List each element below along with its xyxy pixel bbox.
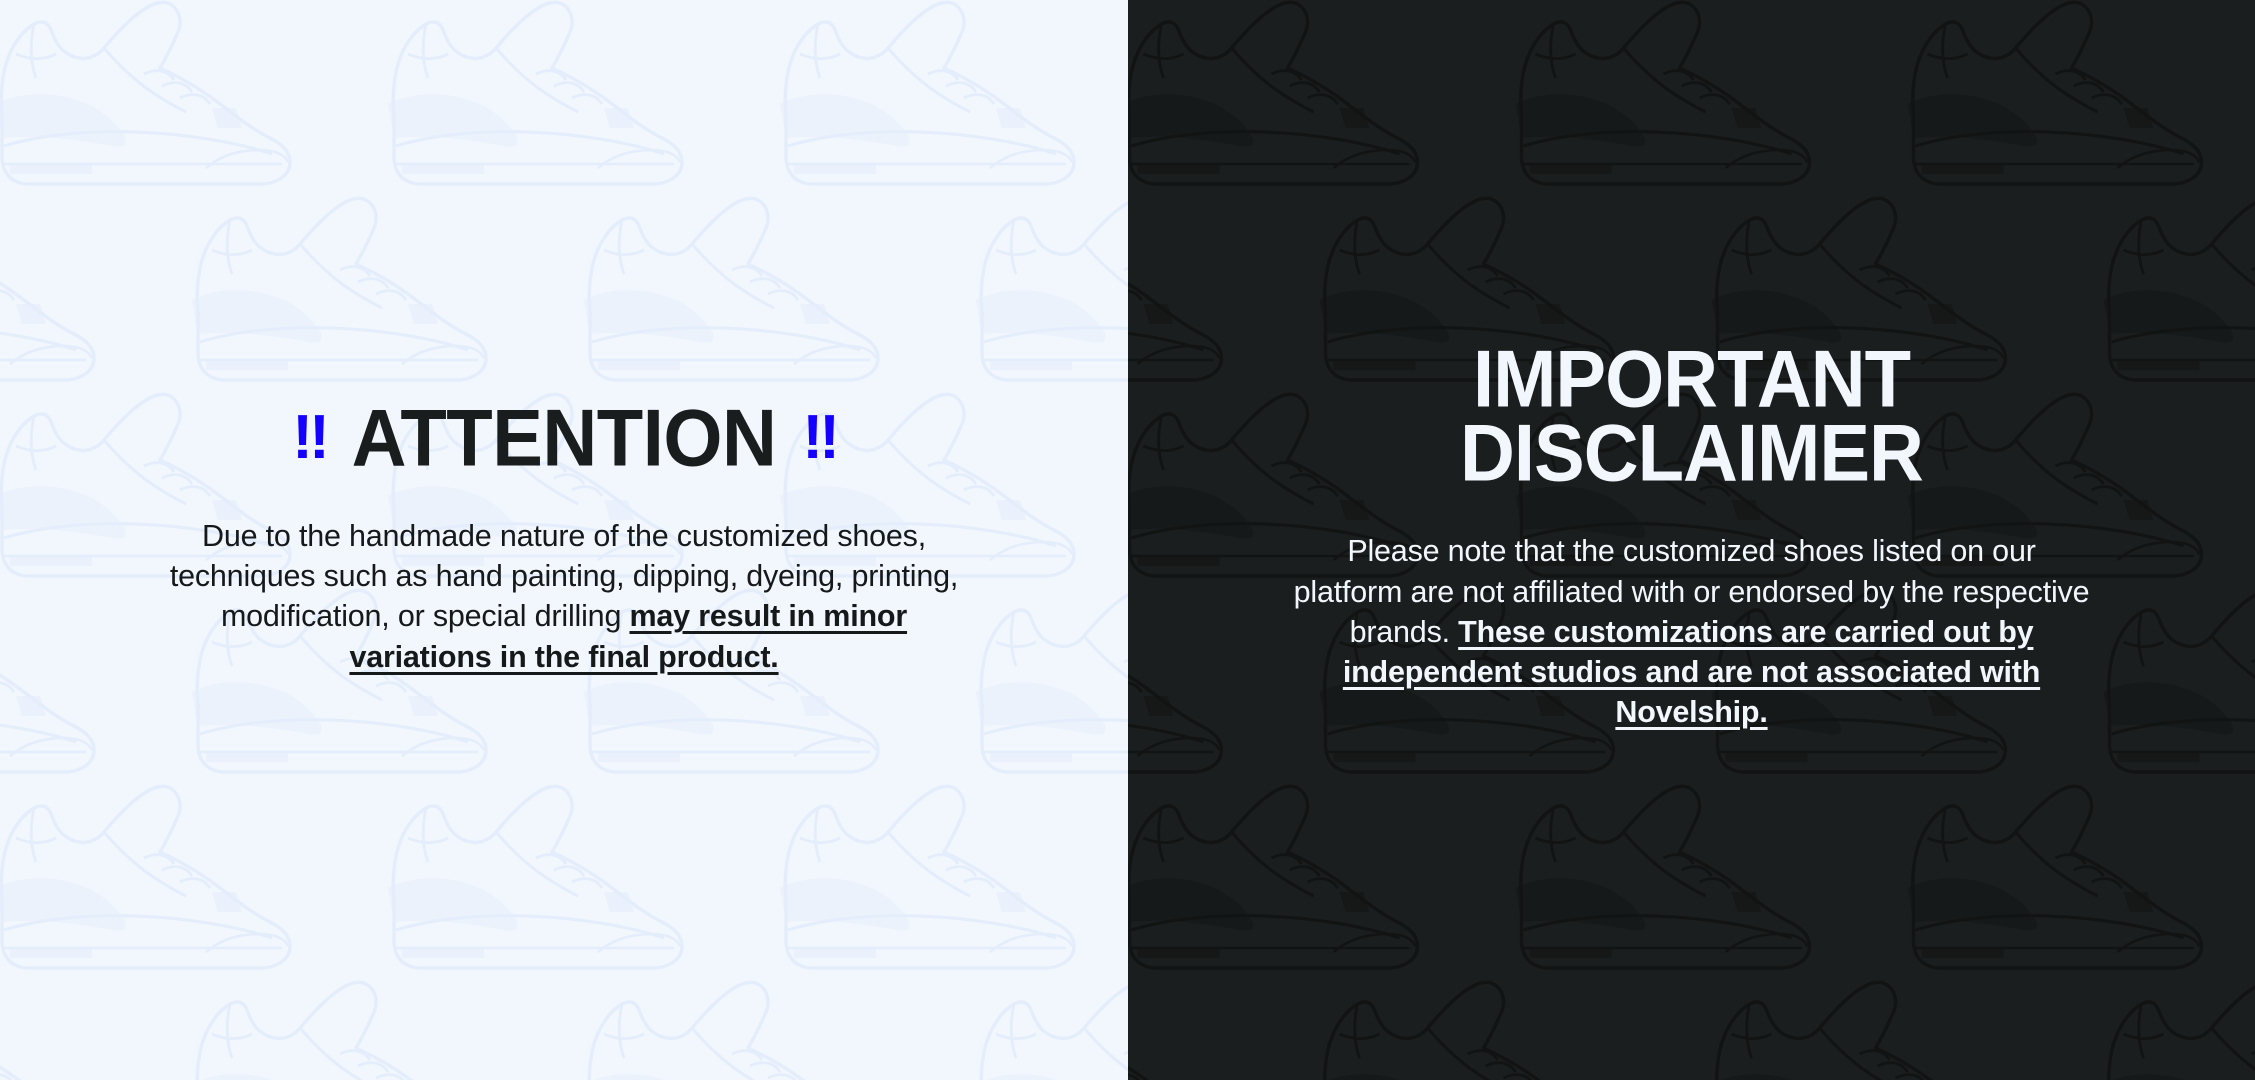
- disclaimer-panel: IMPORTANT DISCLAIMER Please note that th…: [1128, 0, 2255, 1080]
- disclaimer-banner: ‼ATTENTION‼ Due to the handmade nature o…: [0, 0, 2255, 1080]
- attention-panel: ‼ATTENTION‼ Due to the handmade nature o…: [0, 0, 1128, 1080]
- disclaimer-heading-line2: DISCLAIMER: [1460, 409, 1923, 499]
- disclaimer-heading: IMPORTANT DISCLAIMER: [1208, 343, 2175, 491]
- disclaimer-content: IMPORTANT DISCLAIMER Please note that th…: [1128, 347, 2255, 732]
- disclaimer-body: Please note that the customized shoes li…: [1292, 531, 2092, 732]
- attention-heading-text: ATTENTION: [352, 393, 777, 483]
- double-exclamation-icon-left: ‼: [292, 408, 325, 467]
- attention-heading: ‼ATTENTION‼: [80, 401, 1048, 478]
- attention-body: Due to the handmade nature of the custom…: [169, 516, 959, 677]
- attention-content: ‼ATTENTION‼ Due to the handmade nature o…: [0, 403, 1128, 677]
- double-exclamation-icon-right: ‼: [802, 408, 835, 467]
